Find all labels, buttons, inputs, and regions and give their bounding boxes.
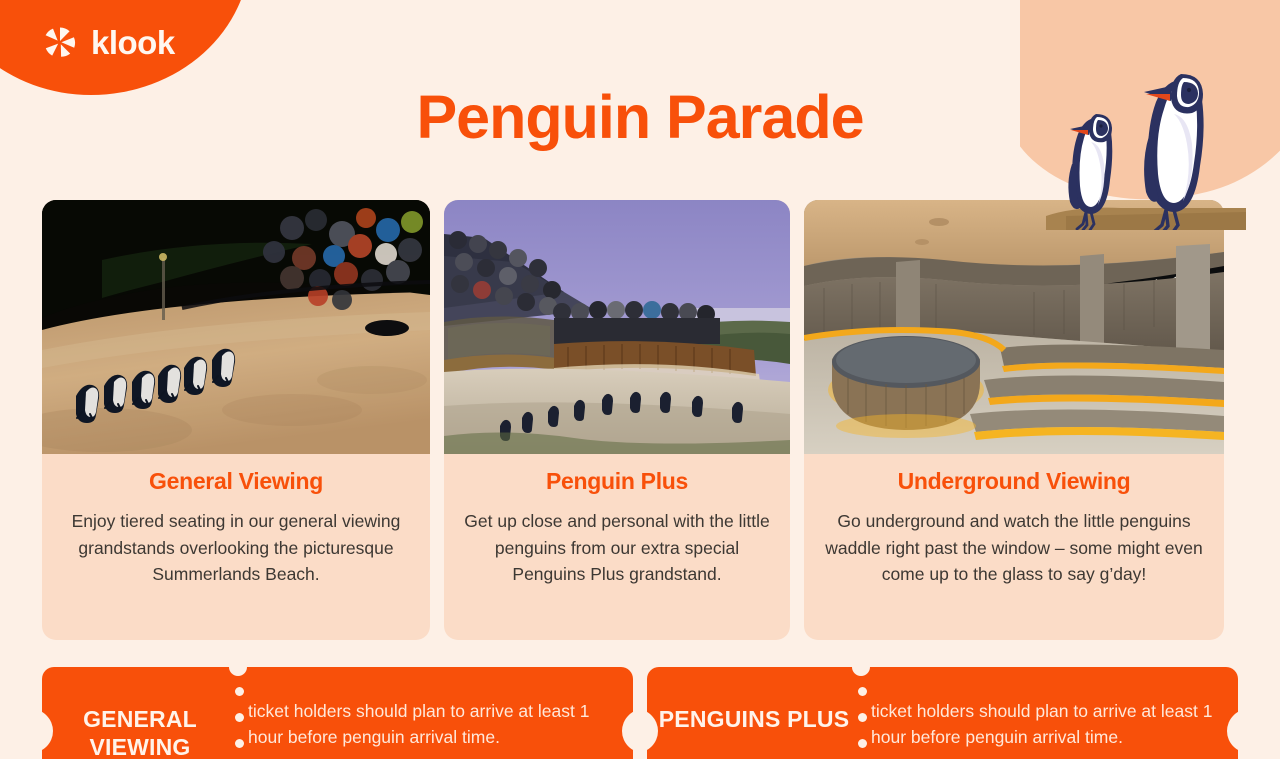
ticket-note-wrap: ticket holders should plan to arrive at … xyxy=(238,667,633,751)
klook-wordmark: klook xyxy=(91,26,175,59)
ticket-label: GENERAL VIEWING xyxy=(52,705,228,759)
ticket-label: PENGUINS PLUS xyxy=(659,705,849,733)
card-title: Underground Viewing xyxy=(822,468,1206,495)
card-penguin-plus[interactable]: Penguin Plus Get up close and personal w… xyxy=(444,200,790,640)
ticket-note: ticket holders should plan to arrive at … xyxy=(248,699,617,751)
card-description: Enjoy tiered seating in our general view… xyxy=(60,508,412,588)
viewing-options-cards: General Viewing Enjoy tiered seating in … xyxy=(42,200,1238,640)
klook-logo[interactable]: klook xyxy=(40,22,175,62)
card-title: Penguin Plus xyxy=(462,468,772,495)
ticket-perforation xyxy=(857,687,867,759)
ticket-notices: GENERAL VIEWING ticket holders should pl… xyxy=(42,667,1238,759)
photo-grandstand-crowd-at-dusk xyxy=(444,200,790,454)
card-description: Get up close and personal with the littl… xyxy=(462,508,772,588)
card-description: Go underground and watch the little peng… xyxy=(822,508,1206,588)
ticket-label-wrap: GENERAL VIEWING xyxy=(42,667,238,759)
ticket-top-notch xyxy=(852,658,870,676)
card-general-viewing[interactable]: General Viewing Enjoy tiered seating in … xyxy=(42,200,430,640)
photo-penguins-on-beach xyxy=(42,200,430,454)
ticket-note-wrap: ticket holders should plan to arrive at … xyxy=(861,667,1238,751)
ticket-penguins-plus[interactable]: PENGUINS PLUS ticket holders should plan… xyxy=(647,667,1238,759)
ticket-label-wrap: PENGUINS PLUS xyxy=(647,667,861,733)
card-title: General Viewing xyxy=(60,468,412,495)
photo-underground-viewing-room xyxy=(804,200,1224,454)
klook-pinwheel-icon xyxy=(40,22,80,62)
ticket-perforation xyxy=(234,687,244,759)
ticket-general-viewing[interactable]: GENERAL VIEWING ticket holders should pl… xyxy=(42,667,633,759)
card-underground-viewing[interactable]: Underground Viewing Go underground and w… xyxy=(804,200,1224,640)
ticket-note: ticket holders should plan to arrive at … xyxy=(871,699,1222,751)
ticket-top-notch xyxy=(229,658,247,676)
two-penguins-illustration xyxy=(1046,40,1246,230)
